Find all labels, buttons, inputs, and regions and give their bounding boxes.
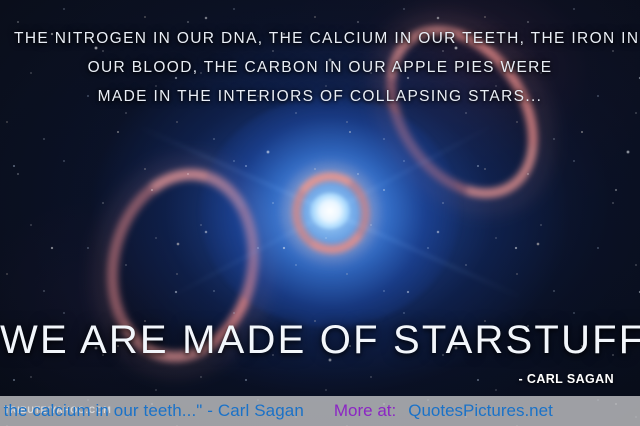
light-spike-left bbox=[138, 126, 523, 299]
ring-center bbox=[285, 166, 376, 260]
caption-bar: TRIBUTE/YAHOO.COM , the calcium in our t… bbox=[0, 396, 640, 426]
quote-text-block: The nitrogen in our DNA, the calcium in … bbox=[0, 24, 640, 111]
ring-center-halo bbox=[276, 157, 386, 270]
quote-line-1: The nitrogen in our DNA, the calcium in … bbox=[14, 24, 626, 53]
quote-line-2: our blood, the carbon in our apple pies … bbox=[14, 53, 626, 82]
light-spike-right bbox=[162, 122, 498, 302]
attribution-text: - CARL SAGAN bbox=[518, 372, 614, 386]
quote-image: The nitrogen in our DNA, the calcium in … bbox=[0, 0, 640, 426]
supernova-core-glow bbox=[200, 97, 460, 327]
caption-quote-snippet: , the calcium in our teeth..." - Carl Sa… bbox=[0, 401, 304, 421]
more-at-label: More at: bbox=[334, 401, 396, 421]
site-link[interactable]: QuotesPictures.net bbox=[408, 401, 553, 421]
headline-text: We are made of starstuff bbox=[0, 318, 640, 363]
quote-line-3: made in the interiors of collapsing star… bbox=[14, 82, 626, 111]
supernova-core bbox=[310, 193, 350, 229]
